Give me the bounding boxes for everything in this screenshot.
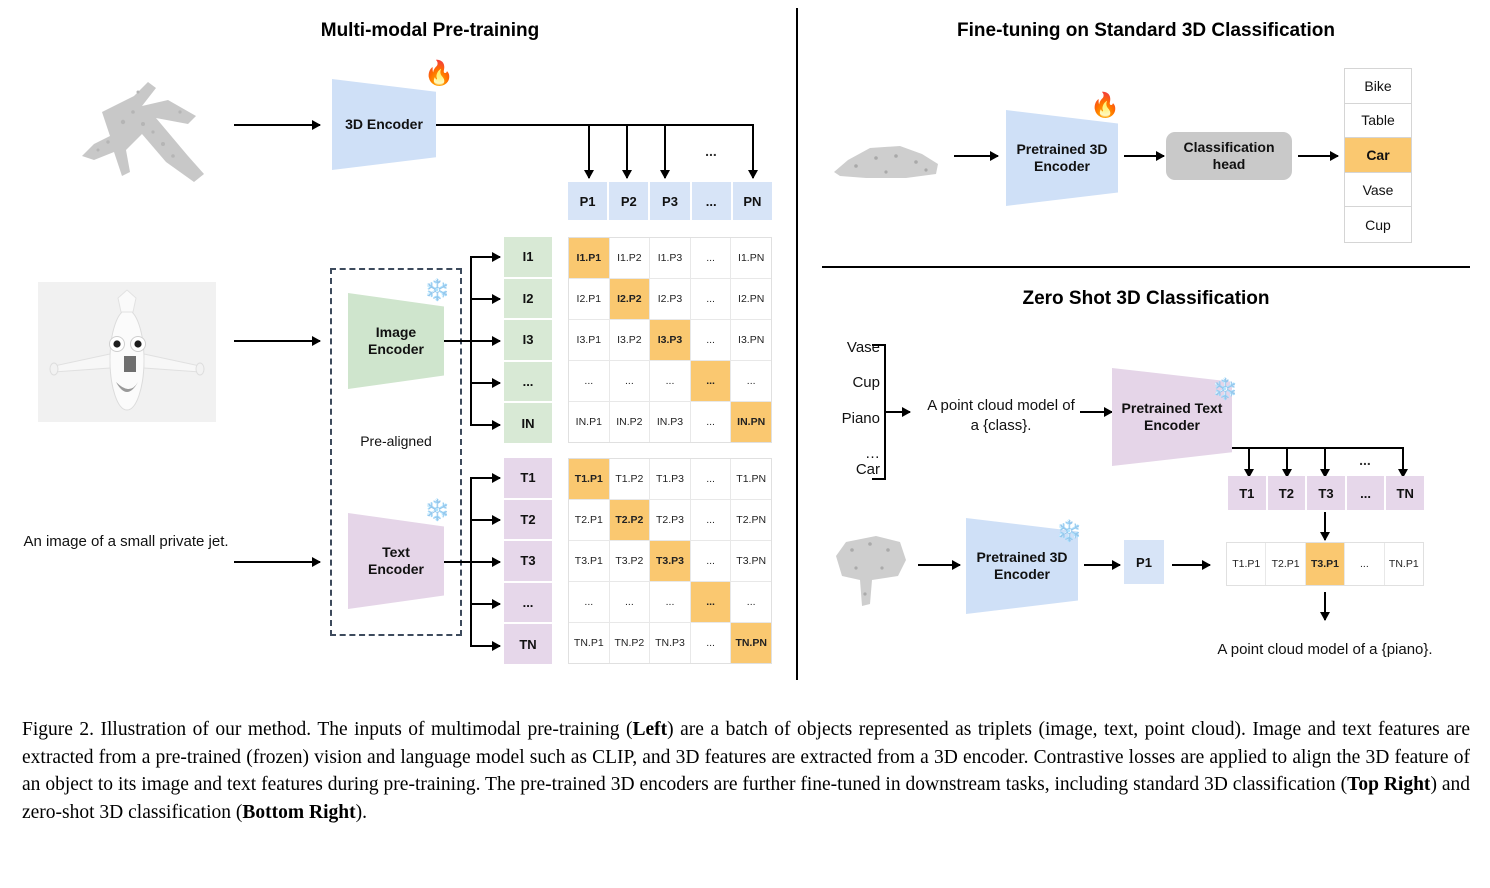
text-label-0: T1 bbox=[504, 458, 552, 500]
text-sim-cell-2-1: T3.P2 bbox=[610, 541, 650, 581]
text-sim-cell-4-1: TN.P2 bbox=[610, 623, 650, 663]
image-sim-cell-2-4: I3.PN bbox=[731, 320, 771, 360]
text-sim-cell-1-0: T2.P1 bbox=[569, 500, 609, 540]
image-sim-cell-4-3: ... bbox=[691, 402, 731, 442]
image-sim-cell-3-0: ... bbox=[569, 361, 609, 401]
arrow-classes-to-prompt bbox=[886, 411, 910, 413]
fire-icon-3d-encoder: 🔥 bbox=[424, 62, 454, 86]
arrow-to-t2 bbox=[470, 519, 500, 521]
arrow-to-i4 bbox=[470, 382, 500, 384]
pretrained-3d-encoder-label-line2: Encoder bbox=[1034, 158, 1090, 174]
jet-image bbox=[38, 282, 216, 422]
text-encoder-label-line1: Text bbox=[382, 544, 410, 560]
text-sim-cell-3-4: ... bbox=[731, 582, 771, 622]
pretrained-3d-encoder-label-line1: Pretrained 3D bbox=[1016, 141, 1107, 157]
arrow-to-t3 bbox=[470, 561, 500, 563]
text-encoder-bus-zeroshot bbox=[1232, 447, 1404, 449]
arrow-to-t3-zeroshot bbox=[1324, 447, 1326, 477]
prompt-line2: a {class}. bbox=[971, 417, 1032, 434]
arrow-image-to-encoder bbox=[234, 340, 320, 342]
vertical-divider bbox=[796, 8, 798, 680]
text-sim-cell-3-0: ... bbox=[569, 582, 609, 622]
image-sim-cell-4-1: IN.P2 bbox=[610, 402, 650, 442]
t-feature-chip-4: TN bbox=[1386, 476, 1424, 510]
image-label-3: ... bbox=[504, 362, 552, 404]
pretrained-text-encoder-label-line2: Encoder bbox=[1144, 417, 1200, 433]
t-feature-row: T1T2T3...TN bbox=[1228, 476, 1424, 510]
pretrained-3d-encoder-box-topright[interactable]: Pretrained 3D Encoder bbox=[1006, 110, 1118, 206]
text-label-stack: T1T2T3...TN bbox=[504, 458, 552, 664]
text-label-4: TN bbox=[504, 624, 552, 664]
image-sim-cell-2-2: I3.P3 bbox=[650, 320, 690, 360]
classification-head-label-line2: head bbox=[1213, 156, 1246, 172]
image-sim-cell-1-3: ... bbox=[691, 279, 731, 319]
t-feature-chip-0: T1 bbox=[1228, 476, 1268, 510]
snowflake-icon-image-encoder: ❄️ bbox=[424, 280, 450, 301]
arrow-to-p3 bbox=[664, 124, 666, 178]
image-sim-cell-3-4: ... bbox=[731, 361, 771, 401]
arrow-to-t4 bbox=[470, 603, 500, 605]
arrow-to-pn bbox=[752, 124, 754, 178]
p-feature-chip-1: P2 bbox=[609, 182, 650, 220]
zeroshot-sim-cell-0-4: TN.P1 bbox=[1385, 543, 1423, 585]
arrow-to-in bbox=[470, 424, 500, 426]
classification-head-box[interactable]: Classification head bbox=[1166, 132, 1292, 180]
t-fanout-ellipsis: ... bbox=[1348, 451, 1382, 469]
p-feature-chip-3: ... bbox=[692, 182, 733, 220]
snowflake-icon-text-encoder: ❄️ bbox=[424, 500, 450, 521]
image-label-stack: I1I2I3...IN bbox=[504, 237, 552, 443]
image-sim-cell-3-2: ... bbox=[650, 361, 690, 401]
image-sim-cell-3-1: ... bbox=[610, 361, 650, 401]
fire-icon-topright: 🔥 bbox=[1090, 94, 1120, 118]
image-sim-cell-2-0: I3.P1 bbox=[569, 320, 609, 360]
zeroshot-sim-cell-0-2: T3.P1 bbox=[1306, 543, 1344, 585]
arrow-to-i1 bbox=[470, 256, 500, 258]
arrow-to-tn bbox=[470, 645, 500, 647]
pretrained-3d-encoder-zs-label-line1: Pretrained 3D bbox=[976, 549, 1067, 565]
text-sim-cell-1-3: ... bbox=[691, 500, 731, 540]
text-point-similarity-matrix: T1.P1T1.P2T1.P3...T1.PNT2.P1T2.P2T2.P3..… bbox=[568, 458, 772, 664]
image-encoder-label-line1: Image bbox=[376, 324, 416, 340]
text-label-2: T3 bbox=[504, 541, 552, 583]
text-sim-cell-4-0: TN.P1 bbox=[569, 623, 609, 663]
figure-caption: Figure 2. Illustration of our method. Th… bbox=[22, 716, 1470, 827]
image-sim-cell-2-1: I3.P2 bbox=[610, 320, 650, 360]
text-sim-cell-0-3: ... bbox=[691, 459, 731, 499]
arrow-to-t1-zeroshot bbox=[1248, 447, 1250, 477]
image-encoder-out bbox=[444, 340, 472, 342]
image-label-2: I3 bbox=[504, 320, 552, 362]
arrow-to-p2 bbox=[626, 124, 628, 178]
zeroshot-sim-cell-0-0: T1.P1 bbox=[1227, 543, 1265, 585]
text-sim-cell-3-2: ... bbox=[650, 582, 690, 622]
horizontal-divider bbox=[822, 266, 1470, 268]
caption-b3: Bottom Right bbox=[242, 802, 355, 823]
t-feature-chip-2: T3 bbox=[1307, 476, 1347, 510]
text-sim-cell-0-2: T1.P3 bbox=[650, 459, 690, 499]
pre-aligned-label: Pre-aligned bbox=[332, 432, 460, 450]
p-feature-chip-4: PN bbox=[733, 182, 772, 220]
image-sim-cell-0-2: I1.P3 bbox=[650, 238, 690, 278]
image-label-0: I1 bbox=[504, 237, 552, 279]
class-item-bike[interactable]: Bike bbox=[1345, 69, 1411, 104]
image-sim-cell-0-1: I1.P2 bbox=[610, 238, 650, 278]
car-point-cloud bbox=[826, 128, 948, 190]
p-feature-chip-0: P1 bbox=[568, 182, 609, 220]
caption-p1: Figure 2. Illustration of our method. Th… bbox=[22, 719, 632, 740]
class-item-vase[interactable]: Vase bbox=[1345, 173, 1411, 208]
pretrained-text-encoder-label-line1: Pretrained Text bbox=[1122, 400, 1223, 416]
image-label-4: IN bbox=[504, 403, 552, 443]
text-sim-cell-0-0: T1.P1 bbox=[569, 459, 609, 499]
3d-encoder-label: 3D Encoder bbox=[345, 116, 423, 133]
image-sim-cell-2-3: ... bbox=[691, 320, 731, 360]
caption-b1: Left bbox=[632, 719, 667, 740]
text-label-1: T2 bbox=[504, 500, 552, 542]
zeroshot-sim-cell-0-1: T2.P1 bbox=[1266, 543, 1304, 585]
3d-encoder-box[interactable]: 3D Encoder bbox=[332, 79, 436, 170]
image-label-1: I2 bbox=[504, 279, 552, 321]
text-input-caption: An image of a small private jet. bbox=[22, 532, 230, 552]
prompt-line1: A point cloud model of bbox=[927, 397, 1075, 414]
p-feature-chip-2: P3 bbox=[650, 182, 691, 220]
text-sim-cell-0-1: T1.P2 bbox=[610, 459, 650, 499]
text-sim-cell-4-3: ... bbox=[691, 623, 731, 663]
arrow-prompt-to-text-encoder bbox=[1080, 411, 1112, 413]
arrow-to-tn-zeroshot bbox=[1402, 447, 1404, 477]
p1-feature-label: P1 bbox=[1136, 555, 1152, 570]
prompt-template: A point cloud model of a {class}. bbox=[908, 396, 1094, 435]
text-sim-cell-2-0: T3.P1 bbox=[569, 541, 609, 581]
class-item-table[interactable]: Table bbox=[1345, 104, 1411, 139]
image-encoder-box[interactable]: Image Encoder bbox=[348, 293, 444, 389]
image-sim-cell-4-4: IN.PN bbox=[731, 402, 771, 442]
text-sim-cell-1-4: T2.PN bbox=[731, 500, 771, 540]
text-sim-cell-2-4: T3.PN bbox=[731, 541, 771, 581]
arrow-text-to-encoder bbox=[234, 561, 320, 563]
text-sim-cell-1-2: T2.P3 bbox=[650, 500, 690, 540]
arrow-tfeatures-to-similarity bbox=[1324, 512, 1326, 540]
panel-title-topright: Fine-tuning on Standard 3D Classificatio… bbox=[886, 20, 1406, 42]
text-sim-cell-2-3: ... bbox=[691, 541, 731, 581]
zeroshot-result-text: A point cloud model of a {piano}. bbox=[1196, 640, 1454, 660]
text-sim-cell-4-2: TN.P3 bbox=[650, 623, 690, 663]
candidate-class-piano: Piano bbox=[818, 409, 880, 429]
image-encoder-label-line2: Encoder bbox=[368, 341, 424, 357]
text-encoder-box[interactable]: Text Encoder bbox=[348, 513, 444, 609]
image-sim-cell-1-2: I2.P3 bbox=[650, 279, 690, 319]
p-feature-row: P1P2P3...PN bbox=[568, 182, 772, 220]
class-candidates-bracket bbox=[872, 344, 886, 480]
arrow-encoder-to-p1-zeroshot bbox=[1084, 564, 1120, 566]
3d-encoder-bus bbox=[436, 124, 754, 126]
image-sim-cell-4-2: IN.P3 bbox=[650, 402, 690, 442]
arrow-to-t2-zeroshot bbox=[1286, 447, 1288, 477]
t-feature-chip-3: ... bbox=[1347, 476, 1387, 510]
zeroshot-similarity-row: T1.P1T2.P1T3.P1...TN.P1 bbox=[1226, 542, 1424, 586]
text-sim-cell-3-3: ... bbox=[691, 582, 731, 622]
arrow-car-to-encoder bbox=[954, 155, 998, 157]
figure-canvas: Multi-modal Pre-training Fine-tuning on … bbox=[0, 0, 1490, 700]
class-list[interactable]: BikeTableCarVaseCup bbox=[1344, 68, 1412, 243]
panel-title-left: Multi-modal Pre-training bbox=[280, 20, 580, 42]
classification-head-label-line1: Classification bbox=[1183, 139, 1274, 155]
arrow-head-to-classlist bbox=[1298, 155, 1338, 157]
image-sim-cell-0-0: I1.P1 bbox=[569, 238, 609, 278]
t-feature-chip-1: T2 bbox=[1268, 476, 1308, 510]
arrow-to-t1 bbox=[470, 477, 500, 479]
arrow-piano-to-encoder bbox=[918, 564, 960, 566]
arrow-pointcloud-to-encoder bbox=[234, 124, 320, 126]
image-point-similarity-matrix: I1.P1I1.P2I1.P3...I1.PNI2.P1I2.P2I2.P3..… bbox=[568, 237, 772, 443]
arrow-encoder-to-head bbox=[1124, 155, 1164, 157]
caption-b2: Top Right bbox=[1347, 774, 1430, 795]
text-sim-cell-2-2: T3.P3 bbox=[650, 541, 690, 581]
text-label-3: ... bbox=[504, 583, 552, 625]
p-fanout-ellipsis: ... bbox=[694, 142, 728, 160]
image-sim-cell-1-4: I2.PN bbox=[731, 279, 771, 319]
image-sim-cell-0-3: ... bbox=[691, 238, 731, 278]
text-encoder-out bbox=[444, 561, 472, 563]
text-sim-cell-0-4: T1.PN bbox=[731, 459, 771, 499]
arrow-p1-to-similarity bbox=[1172, 564, 1210, 566]
arrow-to-p1 bbox=[588, 124, 590, 178]
snowflake-icon-3d-encoder-zeroshot: ❄️ bbox=[1056, 521, 1082, 542]
class-item-car[interactable]: Car bbox=[1345, 138, 1411, 173]
image-sim-cell-3-3: ... bbox=[691, 361, 731, 401]
text-sim-cell-4-4: TN.PN bbox=[731, 623, 771, 663]
panel-title-bottomright: Zero Shot 3D Classification bbox=[946, 288, 1346, 310]
zeroshot-sim-cell-0-3: ... bbox=[1345, 543, 1383, 585]
text-sim-cell-3-1: ... bbox=[610, 582, 650, 622]
image-sim-cell-0-4: I1.PN bbox=[731, 238, 771, 278]
class-item-cup[interactable]: Cup bbox=[1345, 207, 1411, 242]
text-sim-cell-1-1: T2.P2 bbox=[610, 500, 650, 540]
text-encoder-label-line2: Encoder bbox=[368, 561, 424, 577]
pretrained-3d-encoder-zs-label-line2: Encoder bbox=[994, 566, 1050, 582]
airplane-point-cloud bbox=[38, 52, 238, 212]
snowflake-icon-text-encoder-zeroshot: ❄️ bbox=[1212, 379, 1238, 400]
arrow-similarity-to-result bbox=[1324, 592, 1326, 620]
caption-p4: ). bbox=[356, 802, 367, 823]
p1-feature-chip: P1 bbox=[1124, 540, 1166, 584]
arrow-to-i3 bbox=[470, 340, 500, 342]
arrow-to-i2 bbox=[470, 298, 500, 300]
image-sim-cell-1-1: I2.P2 bbox=[610, 279, 650, 319]
piano-point-cloud bbox=[826, 520, 922, 616]
image-sim-cell-1-0: I2.P1 bbox=[569, 279, 609, 319]
image-sim-cell-4-0: IN.P1 bbox=[569, 402, 609, 442]
